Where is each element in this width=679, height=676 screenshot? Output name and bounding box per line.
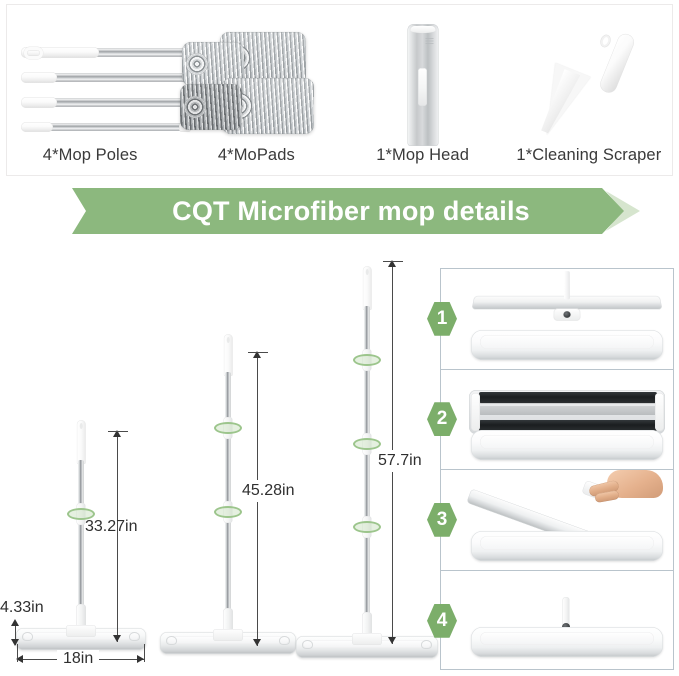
swivel-pin-icon <box>563 311 570 318</box>
mop-plate <box>160 632 296 654</box>
mop-plate <box>296 636 438 658</box>
dim-label-small-height: 33.27in <box>85 518 138 536</box>
microfiber-pad <box>471 330 663 360</box>
mop-swivel-hub <box>553 308 580 320</box>
assembled-mop-head <box>471 627 663 657</box>
page-title: CQT Microfiber mop details <box>72 188 624 234</box>
part-cell-mop-pads: 4*MoPads <box>173 5 339 175</box>
microfiber-pad <box>471 531 663 561</box>
step-illustration-1 <box>465 269 667 369</box>
pole-connector-ring <box>214 422 242 434</box>
dim-label-medium-height: 45.28in <box>238 480 299 502</box>
mop-pole-segment <box>564 271 570 299</box>
step-panel-3: 3 <box>441 470 673 571</box>
dim-tick-small-top <box>108 431 128 432</box>
scraper-hanging-hole <box>599 34 612 48</box>
pole-connector-ring <box>353 438 381 450</box>
dim-arrow-up-thickness <box>11 619 19 626</box>
mop-head-bar <box>472 296 663 309</box>
mop-head-underside <box>469 390 665 434</box>
assembly-steps-frame: 1 2 <box>440 268 674 670</box>
part-label-cleaning-scraper: 1*Cleaning Scraper <box>516 146 661 175</box>
step-illustration-4 <box>465 571 667 672</box>
hand-icon <box>587 470 663 506</box>
step-illustration-2 <box>465 370 667 470</box>
dim-tick-width-left <box>17 644 18 662</box>
pole-connector-ring <box>353 354 381 366</box>
velcro-strip-top <box>479 392 657 403</box>
mop-head-icon <box>340 18 506 146</box>
section-title-banner: CQT Microfiber mop details <box>72 188 624 234</box>
step-illustration-3 <box>465 470 667 570</box>
step-panel-1: 1 <box>441 269 673 370</box>
part-label-mop-pads: 4*MoPads <box>218 146 295 175</box>
dim-line-small-height <box>117 432 118 642</box>
step-panel-4: 4 <box>441 571 673 672</box>
dim-label-plate-thickness: 4.33in <box>0 599 44 617</box>
pole-connector-ring <box>353 521 381 533</box>
head-center-band <box>479 406 657 415</box>
microfiber-pad <box>471 430 663 460</box>
pole-hanging-loop <box>24 47 43 59</box>
dim-tick-width-right <box>144 644 145 662</box>
dim-arrow-right-width <box>137 655 144 663</box>
dim-arrow-down-medium <box>253 639 261 646</box>
dim-arrow-down-large <box>388 637 396 644</box>
parts-row: 4*Mop Poles <box>7 5 672 175</box>
mop-pads-icon <box>173 18 339 146</box>
pole-connector-ring <box>214 506 242 518</box>
dim-label-large-height: 57.7in <box>374 450 426 472</box>
dim-arrow-down-small <box>113 635 121 642</box>
dim-tick-large-top <box>383 261 403 262</box>
part-cell-mop-head: 1*Mop Head <box>340 5 506 175</box>
part-cell-cleaning-scraper: 1*Cleaning Scraper <box>506 5 672 175</box>
part-cell-mop-poles: 4*Mop Poles <box>7 5 173 175</box>
mop-poles-icon <box>7 18 173 146</box>
part-label-mop-head: 1*Mop Head <box>376 146 469 175</box>
step-panel-2: 2 <box>441 370 673 471</box>
parts-overview-box: 4*Mop Poles <box>6 4 673 176</box>
dim-tick-medium-top <box>248 352 268 353</box>
velcro-strip-bottom <box>479 420 657 431</box>
dim-label-plate-width: 18in <box>57 650 99 668</box>
cleaning-scraper-icon <box>506 18 672 146</box>
mop-plate <box>16 628 146 650</box>
part-label-mop-poles: 4*Mop Poles <box>43 146 138 175</box>
